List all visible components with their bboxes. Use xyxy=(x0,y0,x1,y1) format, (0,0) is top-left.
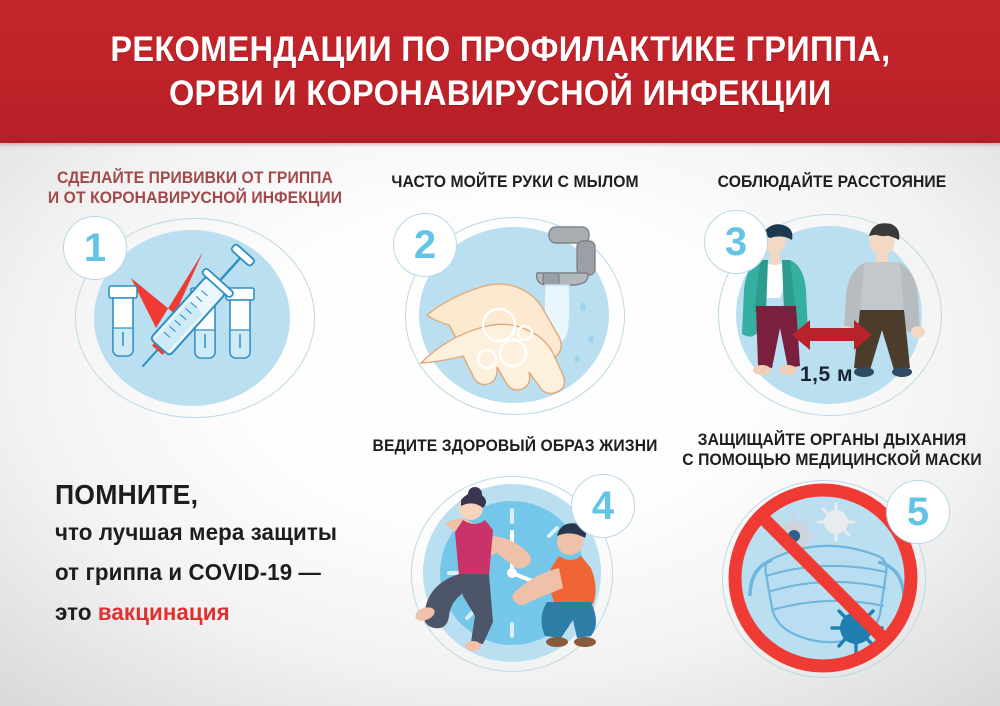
poster-header-banner: РЕКОМЕНДАЦИИ ПО ПРОФИЛАКТИКЕ ГРИППА, ОРВ… xyxy=(0,0,1000,143)
step-1-caption-line-2: И ОТ КОРОНАВИРУСНОЙ ИНФЕКЦИИ xyxy=(34,188,357,208)
step-panel-3: СОБЛЮДАЙТЕ РАССТОЯНИЕ xyxy=(672,168,992,423)
step-1-number: 1 xyxy=(84,228,106,268)
header-title-line-1: РЕКОМЕНДАЦИИ ПО ПРОФИЛАКТИКЕ ГРИППА, xyxy=(110,28,890,72)
vaccine-vial-right xyxy=(226,288,254,358)
step-4-illustration: 4 xyxy=(385,474,647,674)
faucet-icon xyxy=(537,227,595,285)
step-4-caption-line-1: ВЕДИТЕ ЗДОРОВЫЙ ОБРАЗ ЖИЗНИ xyxy=(363,436,667,456)
remember-line-3: это вакцинация xyxy=(55,592,369,632)
step-1-number-badge: 1 xyxy=(63,216,127,280)
step-3-caption-line-1: СОБЛЮДАЙТЕ РАССТОЯНИЕ xyxy=(680,172,984,192)
step-3-number: 3 xyxy=(725,222,747,262)
step-1-illustration: 1 xyxy=(63,216,328,421)
header-title-line-2: ОРВИ И КОРОНАВИРУСНОЙ ИНФЕКЦИИ xyxy=(169,72,832,116)
step-4-number: 4 xyxy=(592,486,614,526)
step-5-caption: ЗАЩИЩАЙТЕ ОРГАНЫ ДЫХАНИЯ С ПОМОЩЬЮ МЕДИЦ… xyxy=(680,430,984,470)
remember-line-1: что лучшая мера защиты xyxy=(55,512,369,552)
step-5-illustration: 5 xyxy=(708,480,964,680)
step-5-caption-line-2: С ПОМОЩЬЮ МЕДИЦИНСКОЙ МАСКИ xyxy=(680,450,984,470)
step-1-caption-line-1: СДЕЛАЙТЕ ПРИВИВКИ ОТ ГРИППА xyxy=(34,168,357,188)
step-2-number-badge: 2 xyxy=(393,213,457,277)
person-man xyxy=(839,223,925,377)
step-panel-5: ЗАЩИЩАЙТЕ ОРГАНЫ ДЫХАНИЯ С ПОМОЩЬЮ МЕДИЦ… xyxy=(672,430,992,685)
step-panel-4: ВЕДИТЕ ЗДОРОВЫЙ ОБРАЗ ЖИЗНИ xyxy=(355,432,675,682)
remember-line-3-prefix: это xyxy=(55,599,98,625)
step-2-caption-line-1: ЧАСТО МОЙТЕ РУКИ С МЫЛОМ xyxy=(363,172,667,192)
step-5-caption-line-1: ЗАЩИЩАЙТЕ ОРГАНЫ ДЫХАНИЯ xyxy=(680,430,984,450)
step-4-caption: ВЕДИТЕ ЗДОРОВЫЙ ОБРАЗ ЖИЗНИ xyxy=(363,436,667,456)
remember-line-2: от гриппа и COVID-19 — xyxy=(55,552,369,592)
poster-root: РЕКОМЕНДАЦИИ ПО ПРОФИЛАКТИКЕ ГРИППА, ОРВ… xyxy=(0,0,1000,706)
step-2-number: 2 xyxy=(414,225,436,265)
remember-title: ПОМНИТЕ, xyxy=(55,478,369,512)
step-2-caption: ЧАСТО МОЙТЕ РУКИ С МЫЛОМ xyxy=(363,172,667,192)
step-1-caption: СДЕЛАЙТЕ ПРИВИВКИ ОТ ГРИППА И ОТ КОРОНАВ… xyxy=(34,168,357,208)
virus-particle-top-right xyxy=(818,504,854,540)
remember-text-block: ПОМНИТЕ, что лучшая мера защиты от грипп… xyxy=(55,478,385,632)
step-3-illustration: 1,5 м 3 xyxy=(704,210,966,420)
step-5-number-badge: 5 xyxy=(886,480,950,544)
step-panel-1: СДЕЛАЙТЕ ПРИВИВКИ ОТ ГРИППА И ОТ КОРОНАВ… xyxy=(25,168,365,423)
step-5-number: 5 xyxy=(907,492,929,532)
step-3-number-badge: 3 xyxy=(704,210,768,274)
step-3-caption: СОБЛЮДАЙТЕ РАССТОЯНИЕ xyxy=(680,172,984,192)
step-4-number-badge: 4 xyxy=(571,474,635,538)
vaccine-vial-left xyxy=(109,286,137,356)
distance-value-label: 1,5 м xyxy=(800,363,853,387)
remember-highlight-vaccination: вакцинация xyxy=(98,599,230,625)
step-panel-2: ЧАСТО МОЙТЕ РУКИ С МЫЛОМ xyxy=(355,168,675,423)
step-2-illustration: 2 xyxy=(391,213,641,418)
